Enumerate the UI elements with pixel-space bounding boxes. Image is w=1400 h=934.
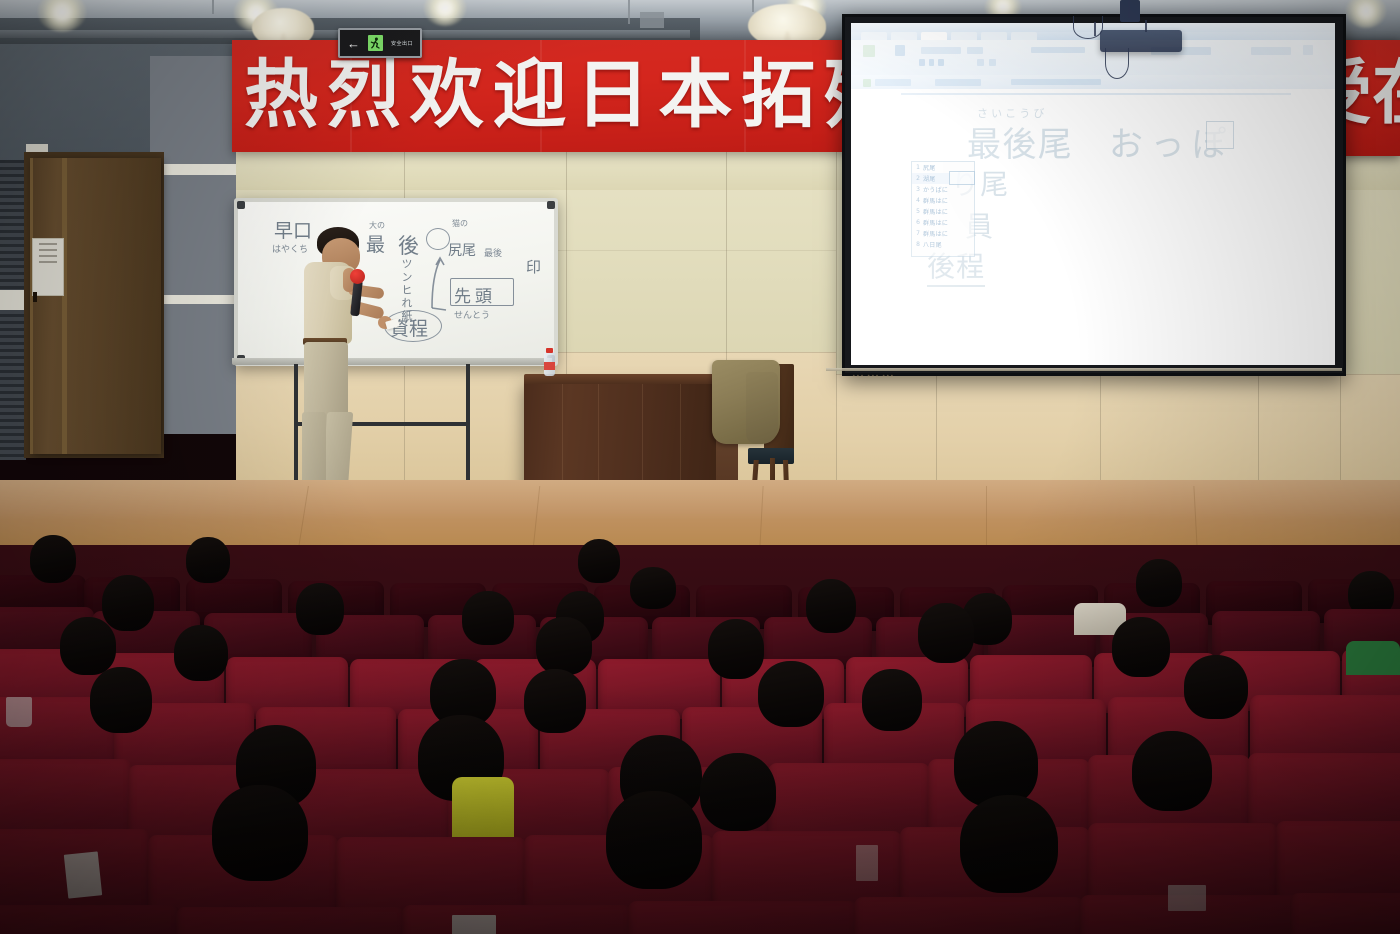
projector-cable-loop <box>1073 16 1103 39</box>
ime-candidate-row[interactable]: 3 かうばに <box>912 184 974 195</box>
ime-candidate-row[interactable]: 6 群馬はに <box>912 217 974 228</box>
audience-paper <box>452 915 496 934</box>
screen-roller-rail <box>826 368 1342 371</box>
ribbon-editing-group[interactable] <box>1251 47 1291 55</box>
slide-title: 最後尾 <box>967 117 1073 166</box>
audience-head <box>30 535 76 583</box>
running-person-icon <box>368 35 383 51</box>
audience-head <box>954 721 1038 807</box>
ribbon-underline-icon[interactable] <box>938 59 944 66</box>
theater-seat[interactable] <box>628 901 858 934</box>
theater-seat[interactable] <box>0 905 180 934</box>
whiteboard-note-ruby: せんとう <box>454 308 490 321</box>
audience-head <box>1132 731 1212 811</box>
audience-head <box>918 603 974 663</box>
audience-head <box>296 583 344 635</box>
door-edge-trim <box>62 158 67 454</box>
whiteboard-note: 早口 <box>274 216 312 243</box>
audience-head <box>102 575 154 631</box>
podium-top-surface <box>524 374 722 384</box>
audience-head <box>630 567 676 609</box>
ime-candidate-word: 群馬はに <box>923 229 948 238</box>
ime-candidate-row[interactable]: 4 群馬はに <box>912 195 974 206</box>
ribbon-highlight-icon[interactable] <box>977 59 984 66</box>
whiteboard-note: 最後 <box>484 246 502 259</box>
audience-head <box>960 795 1058 893</box>
word-ribbon-tab[interactable] <box>951 32 977 40</box>
whiteboard-circle-annotation <box>426 228 450 250</box>
wall-panel-seam <box>1100 374 1101 494</box>
projector-cable-loop <box>1105 48 1129 79</box>
audience-head <box>806 579 856 633</box>
whiteboard-note: 猫の <box>452 218 468 229</box>
door-sign-line <box>39 255 57 257</box>
door-sign-line <box>39 243 57 245</box>
theater-seat[interactable] <box>402 905 632 934</box>
ime-candidate-number: 5 <box>914 208 920 215</box>
ceiling-rod <box>752 0 754 12</box>
side-door[interactable] <box>30 158 161 454</box>
ime-candidate-row[interactable]: 8 八日尾 <box>912 239 974 250</box>
ime-candidate-word: かうばに <box>923 185 948 194</box>
emergency-exit-sign: ← 安全出口 <box>338 28 422 58</box>
door-handle[interactable] <box>33 292 37 302</box>
audience-head <box>700 753 776 831</box>
ribbon-font-size-box[interactable] <box>967 47 983 54</box>
ceiling-rod <box>640 12 664 28</box>
ribbon-help-icon[interactable] <box>1303 45 1313 55</box>
ime-candidate-number: 3 <box>914 186 920 193</box>
ime-candidate-number: 7 <box>914 230 920 237</box>
word-ribbon-tab[interactable] <box>1011 32 1037 40</box>
lecture-hall-photo: 热烈欢迎日本拓殖大 受在 ← 安全出口 <box>0 0 1400 934</box>
projector-mount <box>1120 0 1140 22</box>
whiteboard-stand-leg <box>294 364 298 498</box>
projector-wire <box>1128 0 1130 18</box>
exit-sign-label: 安全出口 <box>391 40 413 47</box>
ribbon-format-painter-icon[interactable] <box>895 45 905 56</box>
wall-tan-lower <box>836 374 1400 494</box>
audience-cup <box>6 697 32 727</box>
projector-wire <box>1145 20 1147 32</box>
theater-seat[interactable] <box>1290 893 1400 934</box>
wall-speaker-grill <box>0 160 26 460</box>
toolbar-ime-mode[interactable] <box>875 79 911 86</box>
audience-head <box>606 791 702 889</box>
word-ruler <box>901 93 1291 95</box>
audience-head <box>90 667 152 733</box>
door-notice-sign <box>32 238 64 296</box>
ribbon-paragraph-group[interactable] <box>1031 47 1085 53</box>
ime-candidate-row[interactable]: 7 群馬はに <box>912 228 974 239</box>
audience-paper <box>1168 885 1206 911</box>
whiteboard-note: 大の <box>369 220 385 231</box>
stage-floor-reflection <box>0 480 1400 520</box>
door-sign-line <box>39 261 57 263</box>
audience-head <box>212 785 308 881</box>
water-bottle-label <box>544 362 555 370</box>
ime-candidate-row[interactable]: 5 群馬はに <box>912 206 974 217</box>
water-bottle-cap <box>546 348 553 353</box>
ime-candidate-word: 湖尾 <box>923 174 936 183</box>
slide-blank-box <box>1206 121 1234 149</box>
ribbon-font-color-icon[interactable] <box>989 59 996 66</box>
ribbon-font-name-box[interactable] <box>921 47 961 54</box>
ime-candidate-number: 1 <box>914 164 920 171</box>
audience-head <box>60 617 116 675</box>
audience-head <box>1184 655 1248 719</box>
wall-panel-seam <box>936 374 937 494</box>
theater-seat[interactable] <box>176 907 406 934</box>
word-ribbon-tab[interactable] <box>921 32 947 40</box>
wall-panel-seam <box>836 150 837 494</box>
ime-candidate-number: 6 <box>914 219 920 226</box>
whiteboard-stand-leg <box>466 364 470 492</box>
ceiling-rod <box>212 0 214 14</box>
audience-head <box>186 537 230 583</box>
audience-paper <box>856 845 878 881</box>
whiteboard-note-ruby: はやくち <box>272 242 308 255</box>
screen-caption-strip: ••• ••• ••• <box>852 373 894 380</box>
microphone-head <box>350 269 365 284</box>
audience-shirt-yellow <box>452 777 514 841</box>
whiteboard-corner-bracket <box>547 201 555 209</box>
ime-candidate-number: 2 <box>914 175 920 182</box>
ime-input-box[interactable] <box>949 171 975 185</box>
whiteboard-pen-tray <box>232 358 552 365</box>
audience-head <box>758 661 824 727</box>
whiteboard-note: 印 <box>526 256 541 277</box>
audience-head <box>524 669 586 733</box>
audience-shirt-green <box>1346 641 1400 675</box>
whiteboard-note: 後 <box>398 230 419 260</box>
toolbar-ime-icon[interactable] <box>863 79 871 87</box>
audience-seating <box>0 545 1400 934</box>
left-arrow-icon: ← <box>347 37 360 50</box>
door-sign-line <box>39 249 57 251</box>
audience-head <box>862 669 922 731</box>
audience-head <box>1112 617 1170 677</box>
ribbon-paste-icon[interactable] <box>863 45 875 57</box>
projection-screen: さいこうび 最後尾 おっぽ り尾 員 後程 1 尻尾 2 湖尾 3 かうばに <box>851 23 1335 365</box>
ime-candidate-number: 8 <box>914 241 920 248</box>
audience-head <box>462 591 514 645</box>
word-ribbon-tab[interactable] <box>861 32 887 40</box>
ime-candidate-word: 群馬はに <box>923 196 948 205</box>
toolbar-ime-dict[interactable] <box>935 79 981 86</box>
audience-head <box>708 619 764 679</box>
audience-head <box>536 617 592 675</box>
whiteboard-note: 最 <box>366 230 385 257</box>
theater-seat[interactable] <box>854 897 1084 934</box>
draped-jacket-sleeve <box>746 372 778 444</box>
word-ribbon-tab[interactable] <box>981 32 1007 40</box>
ribbon-bold-icon[interactable] <box>919 59 925 66</box>
ime-candidate-word: 群馬はに <box>923 218 948 227</box>
ribbon-italic-icon[interactable] <box>929 59 934 66</box>
audience-head <box>1136 559 1182 607</box>
projection-screen-frame: さいこうび 最後尾 おっぽ り尾 員 後程 1 尻尾 2 湖尾 3 かうばに <box>842 14 1346 376</box>
audience-head <box>578 539 620 583</box>
ceiling-rod <box>628 0 630 24</box>
whiteboard-note: 先頭 <box>454 282 496 307</box>
ime-candidate-word: 八日尾 <box>923 240 942 249</box>
ime-candidate-word: 尻尾 <box>923 163 936 172</box>
audience-head <box>174 625 228 681</box>
audience-paper <box>64 851 102 898</box>
ime-candidate-word: 群馬はに <box>923 207 948 216</box>
toolbar-ime-tools[interactable] <box>1011 79 1101 85</box>
whiteboard-corner-bracket <box>237 201 245 209</box>
whiteboard: 早口 はやくち 最 大の 後 ツンヒれ紙 資程 猫の 尻尾 最後 印 先頭 せん… <box>234 198 558 366</box>
projector-wire <box>1094 22 1096 36</box>
word-ribbon-tab[interactable] <box>891 32 917 40</box>
ime-candidate-number: 4 <box>914 197 920 204</box>
